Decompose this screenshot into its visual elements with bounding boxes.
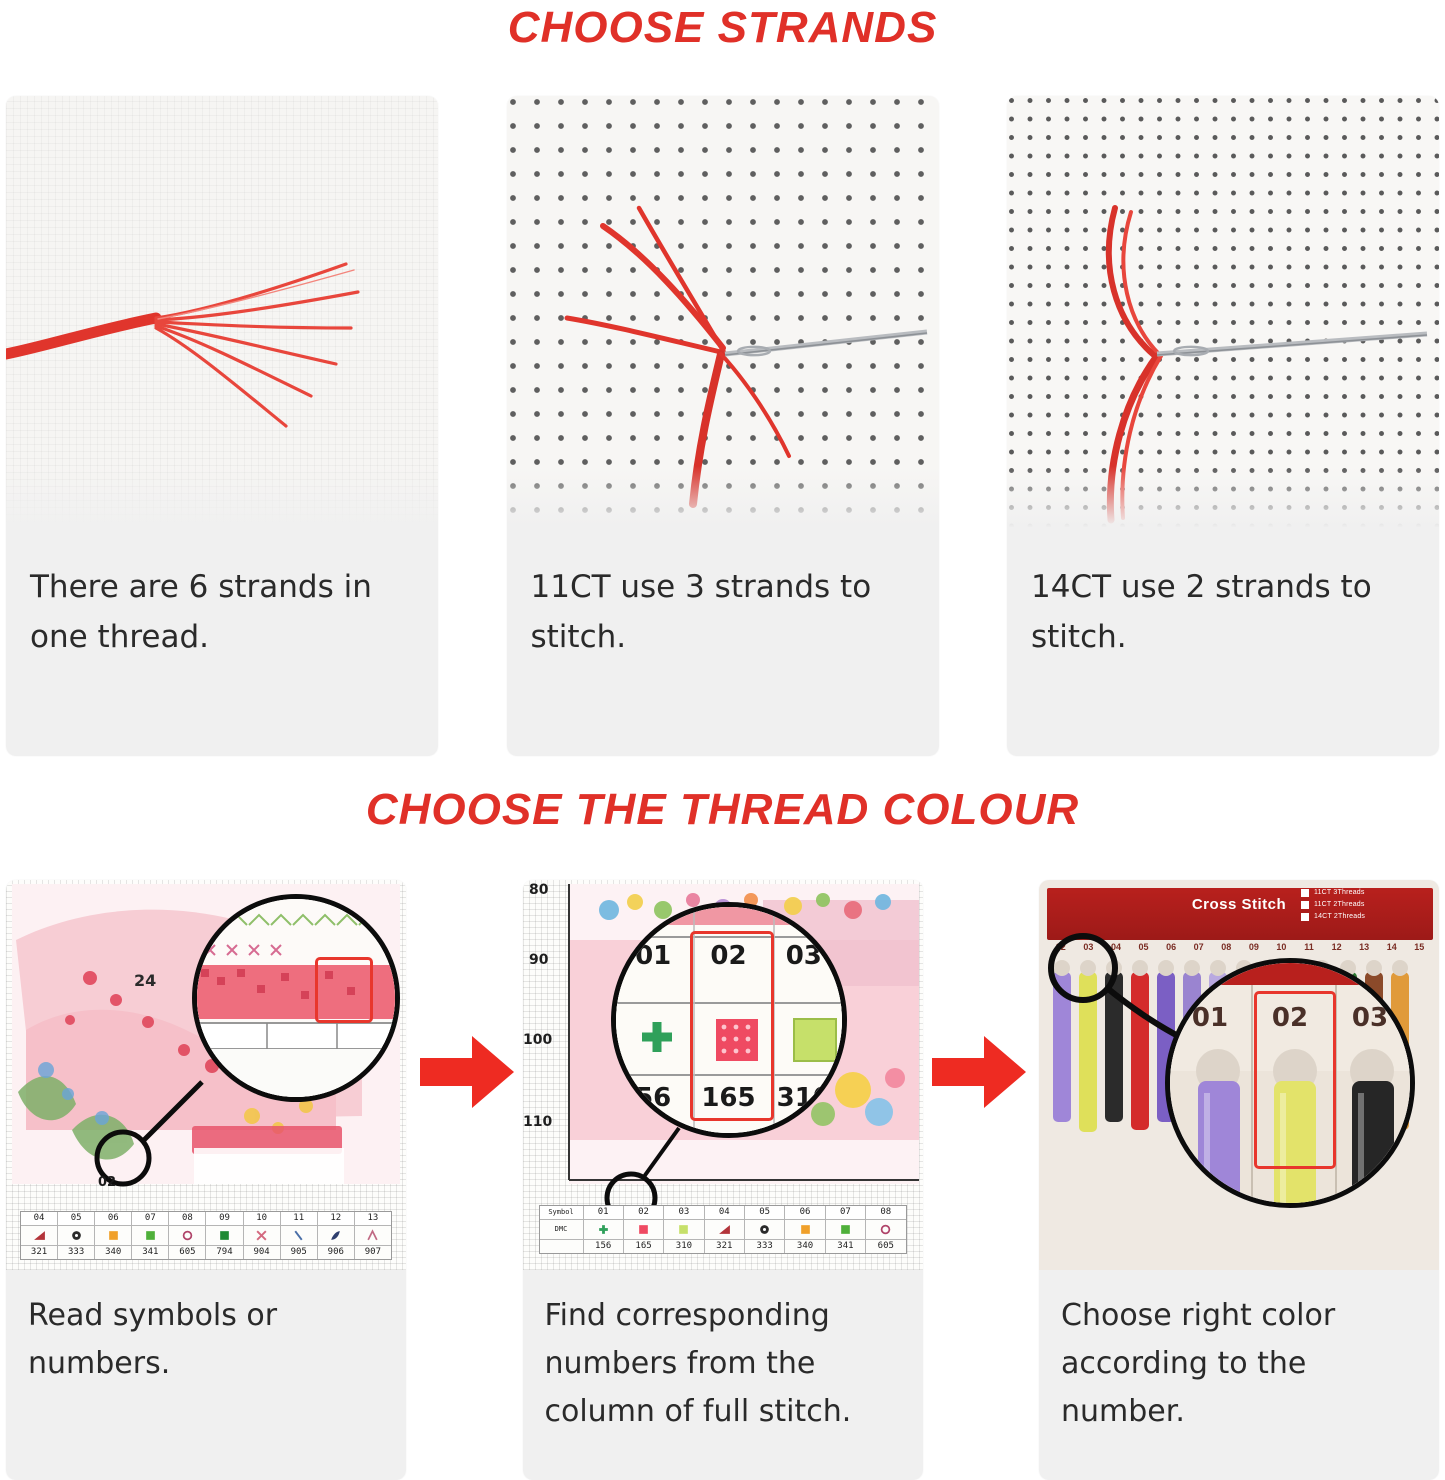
card-six-strands: There are 6 strands in one thread.	[6, 96, 438, 756]
svg-text:80: 80	[529, 882, 549, 898]
legend-index-cell: 08	[169, 1212, 206, 1225]
legend-dmc-cell: 904	[244, 1246, 281, 1259]
magnifier-pattern-detail	[192, 894, 400, 1102]
arrow-step-1-to-2-icon	[420, 1030, 516, 1114]
legend-dmc-cell: 341	[132, 1246, 169, 1259]
card-11ct-three-strands: 11CT use 3 strands to stitch.	[507, 96, 939, 756]
mag-col-02: 02	[710, 941, 746, 971]
symbol-square-darkgreen-icon	[206, 1226, 243, 1245]
photo-11ct-needle	[507, 96, 939, 536]
photo-bottom-fade	[1007, 466, 1439, 536]
magnifier-chart-detail: 01 02 03 56 165 310	[611, 902, 847, 1138]
arrow-step-2-to-3-icon	[932, 1030, 1028, 1114]
symbol-slash-blue-icon	[281, 1226, 318, 1245]
symbol-cross-pink-icon	[244, 1226, 281, 1245]
legend-dmc-cell: 321	[705, 1240, 745, 1253]
section-heading-choose-thread-colour: CHOOSE THE THREAD COLOUR	[0, 784, 1445, 836]
magnified-pattern-art	[197, 899, 400, 1102]
legend-row-label-symbol: Symbol	[540, 1206, 584, 1219]
legend-dmc-cell: 905	[281, 1246, 318, 1259]
legend-dmc-cell: 321	[21, 1246, 58, 1259]
symbol-dot-dark-icon	[745, 1220, 785, 1239]
symbol-leaf-navy-icon	[318, 1226, 355, 1245]
mag-hook-02: 02	[1272, 1003, 1308, 1033]
legend-table-symbols: 04 05 06 07 08 09 10 11 12 13	[20, 1211, 392, 1260]
mag-hook-03: 03	[1352, 1003, 1388, 1033]
magnifier-column-headers: 01 02 03	[616, 941, 842, 971]
caption-six-strands: There are 6 strands in one thread.	[6, 536, 438, 682]
symbol-square-lime-icon	[664, 1220, 704, 1239]
legend-symbol-row	[21, 1225, 391, 1245]
section-heading-choose-strands: CHOOSE STRANDS	[0, 2, 1445, 54]
legend-dmc-cell: 165	[624, 1240, 664, 1253]
legend-index-cell: 11	[281, 1212, 318, 1225]
legend-index-cell: 09	[206, 1212, 243, 1225]
legend-dmc-cell: 340	[95, 1246, 132, 1259]
legend-dmc-cell: 340	[785, 1240, 825, 1253]
legend-index-cell: 05	[745, 1206, 785, 1219]
magnifier-dmc-values: 56 165 310	[616, 1083, 842, 1113]
legend-index-cell: 06	[95, 1212, 132, 1225]
photo-pattern-chart: 80 90 100 110	[523, 880, 923, 1270]
legend-dmc-cell: 906	[318, 1246, 355, 1259]
photo-bottom-fade	[507, 466, 939, 536]
mag-dmc-1: 56	[635, 1083, 671, 1113]
symbol-caret-pink-icon	[355, 1226, 391, 1245]
legend-dmc-row: 321 333 340 341 605 794 904 905 906 907	[21, 1245, 391, 1259]
symbol-triangle-red-icon	[705, 1220, 745, 1239]
magnifier-thread-detail: 01 02 03	[1165, 958, 1415, 1208]
symbol-triangle-red-icon	[21, 1226, 58, 1245]
photo-printed-pattern: 24	[6, 880, 406, 1270]
symbol-square-pink-icon	[624, 1220, 664, 1239]
legend-index-cell: 05	[58, 1212, 95, 1225]
card-14ct-two-strands: 14CT use 2 strands to stitch.	[1007, 96, 1439, 756]
svg-text:90: 90	[529, 952, 549, 968]
legend-dmc-cell: 605	[169, 1246, 206, 1259]
needle-glyph	[1157, 334, 1427, 355]
legend-index-row: 04 05 06 07 08 09 10 11 12 13	[21, 1212, 391, 1225]
legend-symbol-row: DMC	[540, 1219, 906, 1239]
legend-dmc-cell: 156	[584, 1240, 624, 1253]
caption-choose-color: Choose right color according to the numb…	[1039, 1270, 1439, 1452]
legend-dmc-cell: 605	[866, 1240, 905, 1253]
legend-index-cell: 12	[318, 1212, 355, 1225]
caption-read-symbols: Read symbols or numbers.	[6, 1270, 406, 1404]
legend-dmc-cell: 907	[355, 1246, 391, 1259]
symbol-square-orange-icon	[785, 1220, 825, 1239]
symbol-circle-open-pink-icon	[169, 1226, 206, 1245]
card-read-symbols: 24	[6, 880, 406, 1480]
symbol-circle-open-pink-icon	[866, 1220, 905, 1239]
mag-dmc-2: 165	[701, 1083, 755, 1113]
svg-text:100: 100	[523, 1032, 552, 1048]
photo-14ct-needle	[1007, 96, 1439, 536]
mag-col-01: 01	[635, 941, 671, 971]
caption-find-numbers: Find corresponding numbers from the colu…	[523, 1270, 923, 1452]
infographic-page: CHOOSE STRANDS	[0, 0, 1445, 1479]
svg-text:24: 24	[134, 971, 156, 990]
svg-text:110: 110	[523, 1114, 552, 1130]
legend-row-label-dmc: DMC	[540, 1220, 584, 1239]
caption-14ct: 14CT use 2 strands to stitch.	[1007, 536, 1439, 682]
symbol-dot-dark-icon	[58, 1226, 95, 1245]
magnifier-hook-numbers: 01 02 03	[1170, 1003, 1410, 1033]
mag-col-03: 03	[786, 941, 822, 971]
legend-index-cell: 03	[664, 1206, 704, 1219]
legend-dmc-cell: 341	[826, 1240, 866, 1253]
symbol-square-orange-icon	[95, 1226, 132, 1245]
legend-index-cell: 01	[584, 1206, 624, 1219]
legend-index-cell: 02	[624, 1206, 664, 1219]
photo-six-strands	[6, 96, 438, 536]
symbol-square-green-icon	[132, 1226, 169, 1245]
legend-dmc-cell: 333	[58, 1246, 95, 1259]
legend-index-cell: 07	[826, 1206, 866, 1219]
colour-card-row: 24	[0, 880, 1445, 1480]
legend-index-cell: 04	[705, 1206, 745, 1219]
legend-index-cell: 07	[132, 1212, 169, 1225]
legend-index-row: Symbol 01 02 03 04 05 06 07 08	[540, 1206, 906, 1219]
card-find-numbers: 80 90 100 110	[523, 880, 923, 1480]
mag-dmc-3: 310	[777, 1083, 831, 1113]
photo-bottom-fade	[6, 466, 438, 536]
magnified-thread-hooks	[1170, 963, 1415, 1208]
photo-thread-organizer: Cross Stitch 11CT 3Threads 11CT 2Threads	[1039, 880, 1439, 1270]
legend-dmc-cell: 333	[745, 1240, 785, 1253]
needle-glyph	[725, 332, 927, 355]
legend-index-cell: 06	[785, 1206, 825, 1219]
legend-index-cell: 13	[355, 1212, 391, 1225]
legend-index-cell: 04	[21, 1212, 58, 1225]
legend-index-cell: 08	[866, 1206, 905, 1219]
legend-table-chart: Symbol 01 02 03 04 05 06 07 08 DMC	[539, 1205, 907, 1254]
legend-dmc-row: 156 165 310 321 333 340 341 605	[540, 1239, 906, 1253]
card-choose-color: Cross Stitch 11CT 3Threads 11CT 2Threads	[1039, 880, 1439, 1480]
legend-dmc-cell: 794	[206, 1246, 243, 1259]
mag-hook-01: 01	[1192, 1003, 1228, 1033]
legend-index-cell: 10	[244, 1212, 281, 1225]
legend-dmc-cell: 310	[664, 1240, 704, 1253]
symbol-cross-green-icon	[584, 1220, 624, 1239]
caption-11ct: 11CT use 3 strands to stitch.	[507, 536, 939, 682]
strands-card-row: There are 6 strands in one thread.	[0, 96, 1445, 756]
symbol-square-green-icon	[826, 1220, 866, 1239]
